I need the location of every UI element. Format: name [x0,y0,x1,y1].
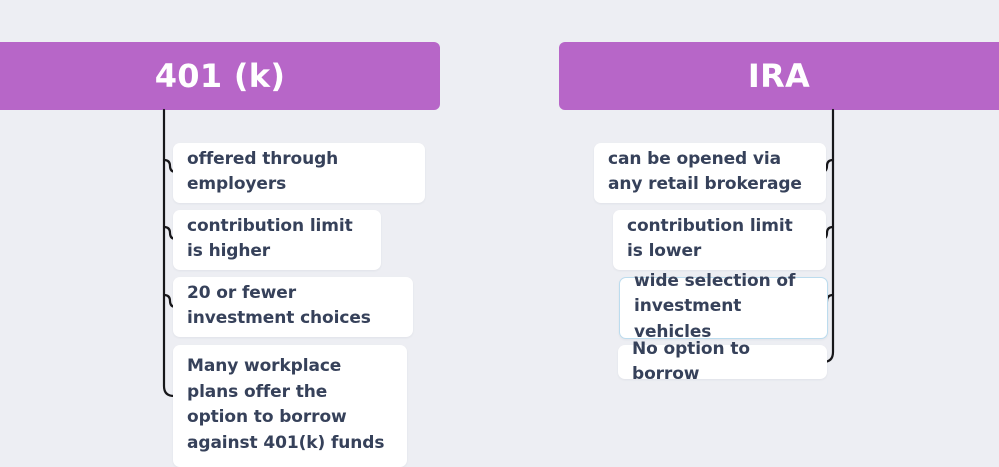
list-item-label: Many workplace plans offer the option to… [187,354,393,456]
column-header-ira-label: IRA [748,57,810,95]
list-item[interactable]: Many workplace plans offer the option to… [173,345,407,467]
column-header-401k[interactable]: 401 (k) [0,42,440,110]
list-item-label: contribution limit is lower [627,214,812,265]
list-item[interactable]: No option to borrow [618,345,827,379]
list-item-label: 20 or fewer investment choices [187,281,399,332]
column-header-ira[interactable]: IRA [559,42,999,110]
list-item[interactable]: can be opened via any retail brokerage [594,143,826,203]
list-item[interactable]: offered through employers [173,143,425,203]
list-item[interactable]: 20 or fewer investment choices [173,277,413,337]
list-item-label: can be opened via any retail brokerage [608,147,812,198]
list-item-label: wide selection of investment vehicles [634,269,813,346]
mindmap-canvas: 401 (k) IRA offered through employers co… [0,0,999,456]
list-item[interactable]: contribution limit is higher [173,210,381,270]
list-item-selected[interactable]: wide selection of investment vehicles [619,277,828,339]
column-header-401k-label: 401 (k) [155,57,286,95]
list-item-label: offered through employers [187,147,411,198]
list-item[interactable]: contribution limit is lower [613,210,826,270]
list-item-label: No option to borrow [632,337,813,388]
list-item-label: contribution limit is higher [187,214,367,265]
